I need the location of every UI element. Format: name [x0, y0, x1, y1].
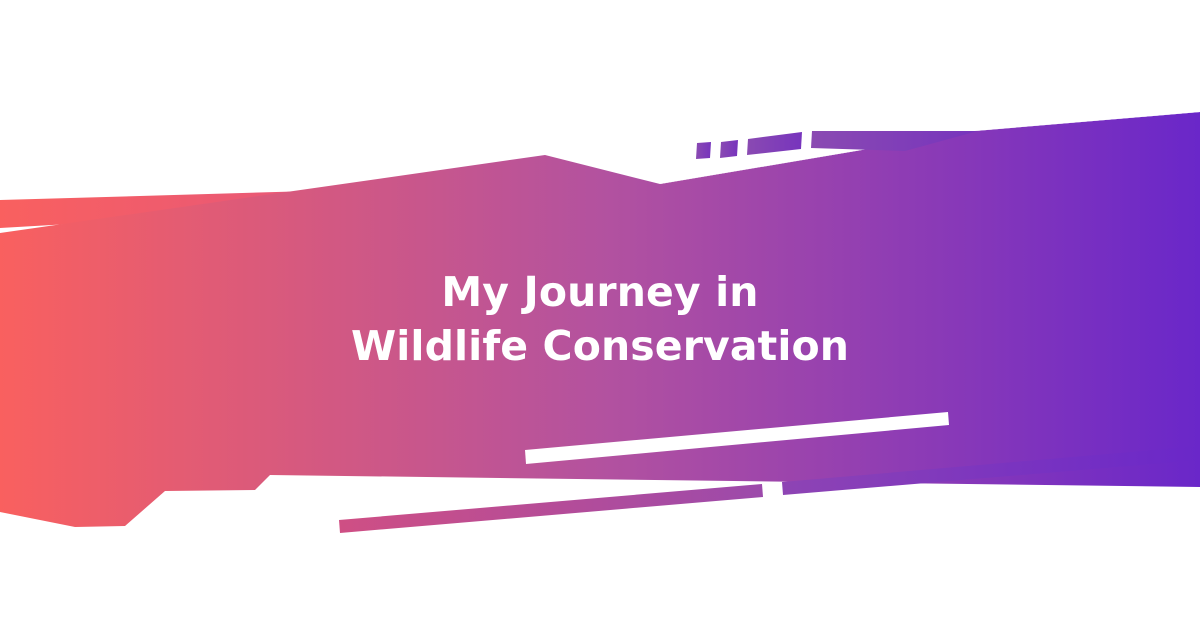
dash-mark-2 — [720, 140, 738, 158]
dash-mark-1 — [696, 142, 711, 159]
banner-root: My Journey in Wildlife Conservation — [0, 0, 1200, 630]
banner-graphic — [0, 0, 1200, 630]
